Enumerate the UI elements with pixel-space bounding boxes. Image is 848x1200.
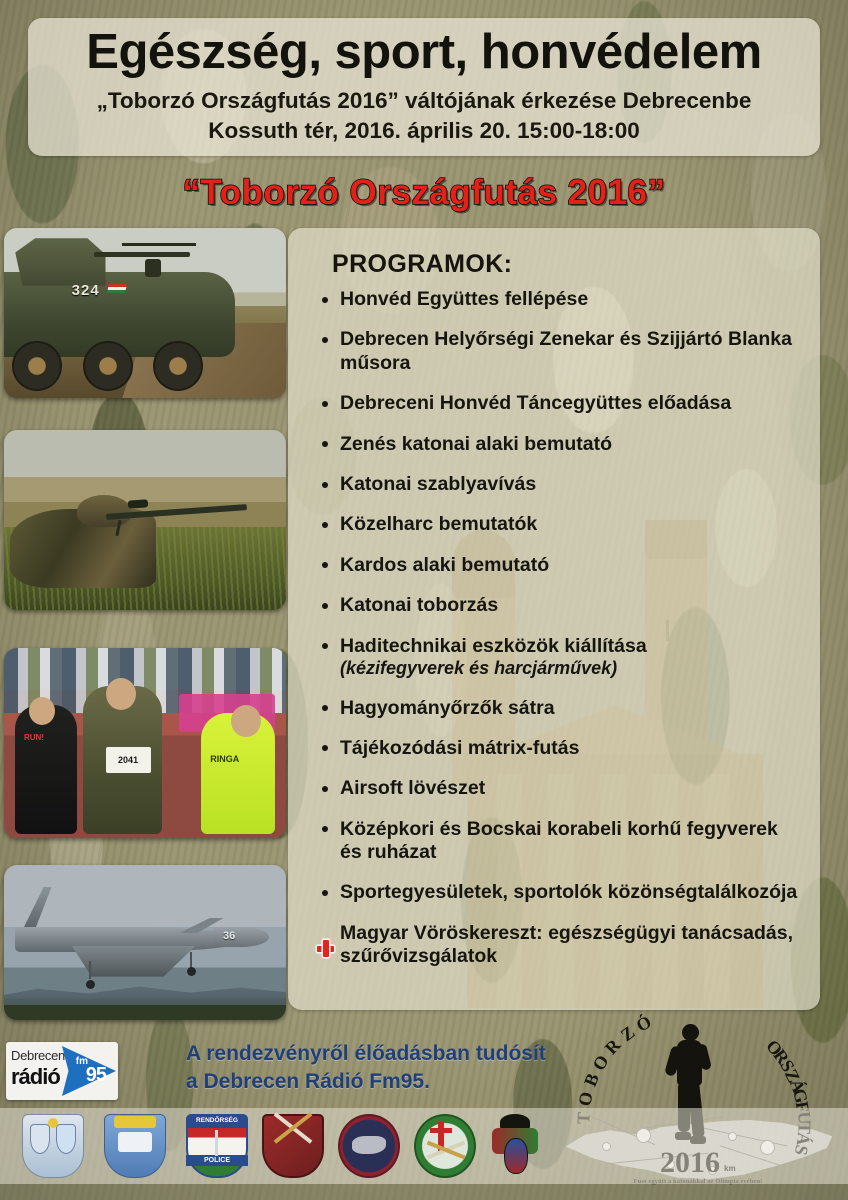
bottom-bar	[0, 1184, 848, 1200]
program-item: Sportegyesületek, sportolók közönségtalá…	[318, 881, 804, 904]
armored-vehicle-photo: 324	[4, 228, 286, 398]
program-item-subtext: (kézifegyverek és harcjárművek)	[340, 658, 804, 680]
fighter-jet-photo: 36	[4, 865, 286, 1020]
program-item: Airsoft lövészet	[318, 777, 804, 800]
military-unit-badge	[262, 1114, 324, 1178]
debrecen-coat-of-arms	[22, 1114, 84, 1178]
hungarian-flag-marking	[107, 284, 127, 293]
program-item: Középkori és Bocskai korabeli korhű fegy…	[318, 818, 804, 865]
vehicle-number: 324	[72, 282, 100, 299]
radio-logo-city: Debrecen	[11, 1048, 65, 1063]
bullet-icon	[322, 482, 328, 488]
red-cross-icon	[317, 940, 334, 957]
bullet-icon	[322, 826, 328, 832]
program-item: Katonai toborzás	[318, 594, 804, 617]
program-item: Katonai szablyavívás	[318, 473, 804, 496]
sniper-soldier-photo	[4, 430, 286, 610]
county-coat-of-arms	[104, 1114, 166, 1178]
police-badge-label-top: RENDŐRSÉG	[186, 1117, 248, 1124]
program-item-label: Tájékozódási mátrix-futás	[340, 737, 579, 759]
bullet-icon	[322, 786, 328, 792]
program-item: Tájékozódási mátrix-futás	[318, 737, 804, 760]
poster-root: Egészség, sport, honvédelem „Toborzó Ors…	[0, 0, 848, 1200]
program-item: Közelharc bemutatók	[318, 513, 804, 536]
program-item-label: Sportegyesületek, sportolók közönségtalá…	[340, 881, 797, 903]
bullet-icon	[322, 562, 328, 568]
bullet-icon	[322, 603, 328, 609]
programs-heading: PROGRAMOK:	[332, 250, 512, 279]
program-item: Honvéd Együttes fellépése	[318, 288, 804, 311]
program-item-label: Közelharc bemutatók	[340, 513, 537, 535]
runner-shirt-text-right: RINGA	[210, 754, 239, 764]
police-badge: RENDŐRSÉG POLICE	[186, 1114, 248, 1178]
bullet-icon	[322, 337, 328, 343]
subtitle-line-2: Kossuth tér, 2016. április 20. 15:00-18:…	[0, 118, 848, 144]
program-item: Haditechnikai eszközök kiállítása(kézife…	[318, 635, 804, 680]
program-list: Honvéd Együttes fellépéseDebrecen Helyőr…	[318, 288, 804, 986]
radio-logo-word: rádió	[11, 1064, 60, 1090]
honved-green-badge	[414, 1114, 476, 1178]
jet-tail-number: 36	[223, 930, 235, 942]
program-item-label: Középkori és Bocskai korabeli korhű fegy…	[340, 818, 778, 863]
program-item-label: Katonai szablyavívás	[340, 473, 536, 495]
program-item-label: Honvéd Együttes fellépése	[340, 288, 588, 310]
program-item-label: Debrecen Helyőrségi Zenekar és Szijjártó…	[340, 328, 792, 373]
police-badge-label-bottom: POLICE	[186, 1157, 248, 1164]
runners-photo: RUN! 2041 RINGA	[4, 648, 286, 838]
bullet-icon	[322, 522, 328, 528]
program-item-label: Katonai toborzás	[340, 594, 498, 616]
bullet-icon	[322, 890, 328, 896]
bullet-icon	[322, 643, 328, 649]
subtitle-line-1: „Toborzó Országfutás 2016” váltójának ér…	[0, 88, 848, 114]
program-item-label: Zenés katonai alaki bemutató	[340, 433, 612, 455]
bullet-icon	[322, 705, 328, 711]
program-item: Zenés katonai alaki bemutató	[318, 433, 804, 456]
program-item-label: Hagyományőrzők sátra	[340, 697, 555, 719]
program-item-label: Airsoft lövészet	[340, 777, 485, 799]
page-title: Egészség, sport, honvédelem	[0, 24, 848, 80]
program-item-label: Kardos alaki bemutató	[340, 554, 549, 576]
radio-logo-frequency: 95	[86, 1064, 106, 1087]
program-item: Magyar Vöröskereszt: egészségügyi tanács…	[318, 922, 804, 969]
bullet-icon	[322, 401, 328, 407]
program-item-label: Debreceni Honvéd Táncegyüttes előadása	[340, 392, 731, 414]
recruitment-circle-badge	[338, 1114, 400, 1178]
runner-bib-number: 2041	[106, 747, 151, 774]
program-item: Debreceni Honvéd Táncegyüttes előadása	[318, 392, 804, 415]
program-item-label: Haditechnikai eszközök kiállítása	[340, 635, 647, 657]
program-item: Kardos alaki bemutató	[318, 554, 804, 577]
program-item: Debrecen Helyőrségi Zenekar és Szijjártó…	[318, 328, 804, 375]
program-item: Hagyományőrzők sátra	[318, 697, 804, 720]
sponsor-logo-strip: RENDŐRSÉG POLICE MOB	[0, 1108, 848, 1184]
program-item-label: Magyar Vöröskereszt: egészségügyi tanács…	[340, 922, 793, 967]
bullet-icon	[322, 441, 328, 447]
bullet-icon	[322, 745, 328, 751]
heraldic-crest-badge	[490, 1114, 540, 1178]
event-title: “Toborzó Országfutás 2016”	[0, 173, 848, 213]
runner-shirt-text-left: RUN!	[24, 733, 44, 742]
bullet-icon	[322, 297, 328, 303]
debrecen-radio-logo: Debrecen rádió fm 95	[6, 1042, 118, 1100]
